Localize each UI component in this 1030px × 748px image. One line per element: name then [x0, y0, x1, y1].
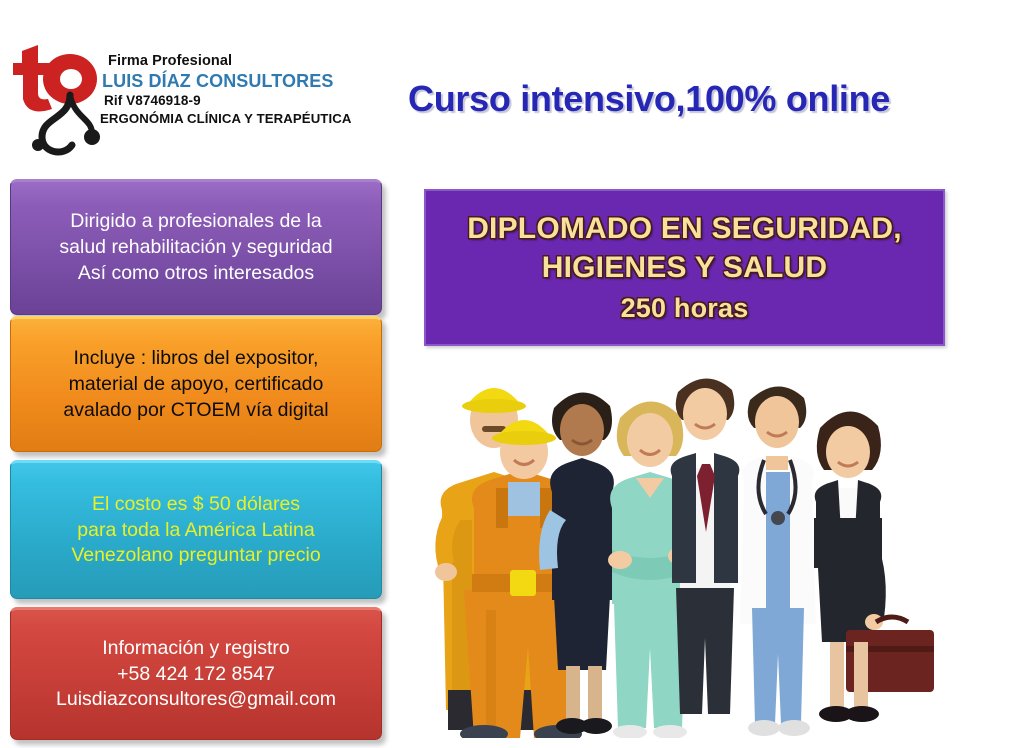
group-of-professionals-photo — [424, 360, 945, 738]
info-box-contact-text: Información y registro +58 424 172 8547 … — [11, 636, 381, 714]
info-box-audience-text: Dirigido a profesionales de la salud reh… — [11, 209, 381, 287]
diploma-banner-hours: 250 horas — [621, 293, 749, 323]
company-name: LUIS DÍAZ CONSULTORES — [102, 71, 370, 92]
header-block: Firma Profesional LUIS DÍAZ CONSULTORES … — [0, 0, 400, 175]
firma-label: Firma Profesional — [108, 53, 370, 70]
stethoscope-to-logo-icon — [8, 33, 113, 163]
specialty-label: ERGONÓMIA CLÍNICA Y TERAPÉUTICA — [100, 111, 370, 127]
info-box-includes: Incluye : libros del expositor, material… — [10, 316, 382, 452]
info-box-price: El costo es $ 50 dólares para toda la Am… — [10, 460, 382, 599]
info-box-audience: Dirigido a profesionales de la salud reh… — [10, 179, 382, 315]
diploma-banner-line-2: HIGIENES Y SALUD — [542, 251, 828, 285]
company-identity: Firma Profesional LUIS DÍAZ CONSULTORES … — [100, 53, 370, 127]
diploma-banner: DIPLOMADO EN SEGURIDAD, HIGIENES Y SALUD… — [424, 189, 945, 346]
diploma-banner-line-1: DIPLOMADO EN SEGURIDAD, — [467, 212, 902, 246]
info-box-includes-text: Incluye : libros del expositor, material… — [11, 346, 381, 424]
page-title: Curso intensivo,100% online — [408, 78, 968, 120]
rif-number: Rif V8746918-9 — [104, 93, 370, 109]
info-box-contact: Información y registro +58 424 172 8547 … — [10, 607, 382, 740]
info-box-price-text: El costo es $ 50 dólares para toda la Am… — [11, 492, 381, 570]
